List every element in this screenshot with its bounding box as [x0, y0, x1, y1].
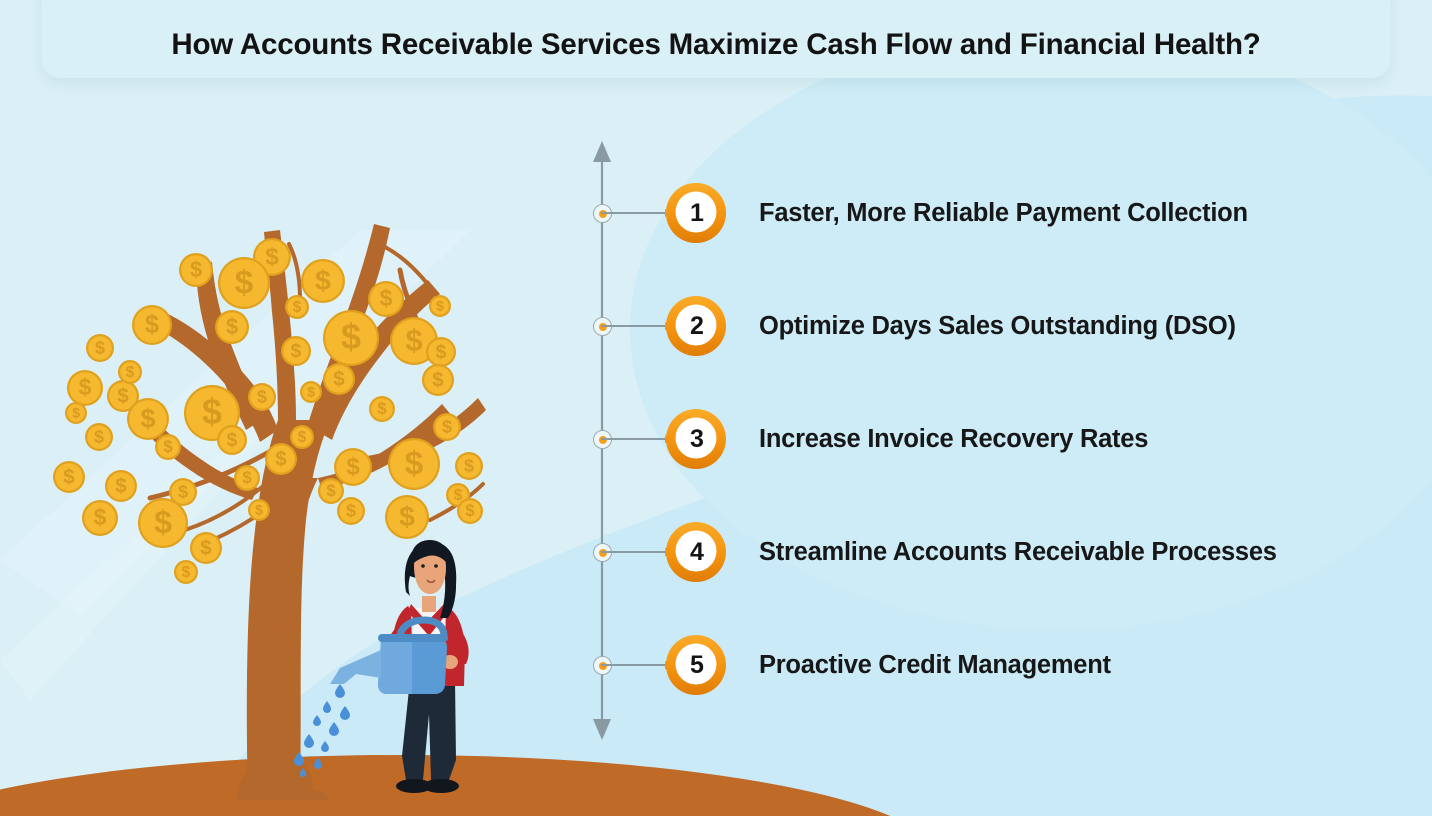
- timeline-item-1[interactable]: 1 Faster, More Reliable Payment Collecti…: [601, 178, 1248, 248]
- coin-dollar-icon: $: [115, 474, 127, 497]
- connector-line-5: [601, 664, 665, 666]
- coin-dollar-icon: $: [298, 429, 307, 446]
- coin-dollar-icon: $: [326, 481, 335, 500]
- coin-dollar-icon: $: [464, 456, 474, 476]
- coin-dollar-icon: $: [315, 264, 331, 296]
- coin-dollar-icon: $: [399, 500, 415, 532]
- coin-dollar-icon: $: [72, 404, 80, 420]
- step-number-2: 2: [665, 295, 727, 357]
- shoe-right: [423, 779, 459, 793]
- timeline-item-2[interactable]: 2 Optimize Days Sales Outstanding (DSO): [601, 291, 1236, 361]
- coin-dollar-icon: $: [341, 317, 361, 357]
- coin-dollar-icon: $: [226, 314, 238, 339]
- coin-dollar-icon: $: [63, 465, 75, 488]
- coin-dollar-icon: $: [154, 504, 172, 540]
- coin-dollar-icon: $: [145, 311, 159, 339]
- coin-dollar-icon: $: [436, 297, 444, 313]
- step-label-5: Proactive Credit Management: [759, 651, 1111, 680]
- timeline-item-3[interactable]: 3 Increase Invoice Recovery Rates: [601, 404, 1148, 474]
- coin-dollar-icon: $: [454, 487, 463, 504]
- connector-line-4: [601, 551, 665, 553]
- coin-dollar-icon: $: [307, 383, 315, 399]
- step-badge-5[interactable]: 5: [665, 634, 727, 696]
- connector-line-2: [601, 325, 665, 327]
- coin-dollar-icon: $: [182, 564, 191, 581]
- step-number-3: 3: [665, 408, 727, 470]
- connector-line-3: [601, 438, 665, 440]
- coin-dollar-icon: $: [141, 403, 156, 433]
- coin-dollar-icon: $: [95, 338, 105, 358]
- coin-dollar-icon: $: [126, 364, 135, 381]
- coin-dollar-icon: $: [94, 427, 104, 447]
- step-badge-3[interactable]: 3: [665, 408, 727, 470]
- page-title: How Accounts Receivable Services Maximiz…: [171, 28, 1260, 62]
- step-number-5: 5: [665, 634, 727, 696]
- step-label-3: Increase Invoice Recovery Rates: [759, 425, 1148, 454]
- ground-mound: [0, 755, 940, 816]
- coin-dollar-icon: $: [380, 285, 393, 311]
- step-label-2: Optimize Days Sales Outstanding (DSO): [759, 312, 1236, 341]
- eye-right: [434, 564, 438, 568]
- coin-dollar-icon: $: [465, 501, 474, 520]
- coin-dollar-icon: $: [442, 417, 452, 437]
- coin-dollar-icon: $: [257, 387, 267, 407]
- coin-dollar-icon: $: [293, 299, 302, 316]
- step-badge-2[interactable]: 2: [665, 295, 727, 357]
- coin-dollar-icon: $: [79, 374, 92, 400]
- coin-dollar-icon: $: [346, 501, 356, 521]
- header-card: How Accounts Receivable Services Maximiz…: [42, 0, 1390, 78]
- coin-dollar-icon: $: [178, 482, 188, 502]
- coin-dollar-icon: $: [255, 501, 263, 517]
- timeline-item-4[interactable]: 4 Streamline Accounts Receivable Process…: [601, 517, 1277, 587]
- coin-dollar-icon: $: [405, 445, 424, 482]
- coin-dollar-icon: $: [265, 244, 279, 271]
- eye-left: [421, 564, 425, 568]
- coin-dollar-icon: $: [377, 399, 386, 418]
- step-label-1: Faster, More Reliable Payment Collection: [759, 199, 1248, 228]
- coin-dollar-icon: $: [227, 430, 238, 451]
- coin-dollar-icon: $: [163, 437, 172, 456]
- connector-line-1: [601, 212, 665, 214]
- coin-dollar-icon: $: [202, 392, 222, 432]
- coin-dollar-icon: $: [346, 454, 360, 481]
- coin-dollar-icon: $: [200, 536, 212, 559]
- step-number-1: 1: [665, 182, 727, 244]
- coin-dollar-icon: $: [436, 342, 447, 363]
- coin-dollar-icon: $: [242, 468, 251, 487]
- step-label-4: Streamline Accounts Receivable Processes: [759, 538, 1277, 567]
- infographic-canvas: $$$$$$$$$$$$$$$$$$$$$$$$$$$$$$$$$$$$$$$$…: [0, 0, 1432, 816]
- coin-dollar-icon: $: [190, 257, 202, 282]
- coin-dollar-icon: $: [117, 384, 129, 407]
- coin-dollar-icon: $: [235, 264, 254, 301]
- coin-dollar-icon: $: [405, 323, 422, 358]
- coin-dollar-icon: $: [94, 504, 107, 530]
- step-badge-1[interactable]: 1: [665, 182, 727, 244]
- coin-dollar-icon: $: [275, 447, 287, 470]
- step-number-4: 4: [665, 521, 727, 583]
- step-badge-4[interactable]: 4: [665, 521, 727, 583]
- coin-dollar-icon: $: [291, 341, 302, 362]
- coin-dollar-icon: $: [432, 368, 444, 391]
- neck: [422, 596, 436, 612]
- timeline-item-5[interactable]: 5 Proactive Credit Management: [601, 630, 1111, 700]
- coin-dollar-icon: $: [333, 367, 345, 390]
